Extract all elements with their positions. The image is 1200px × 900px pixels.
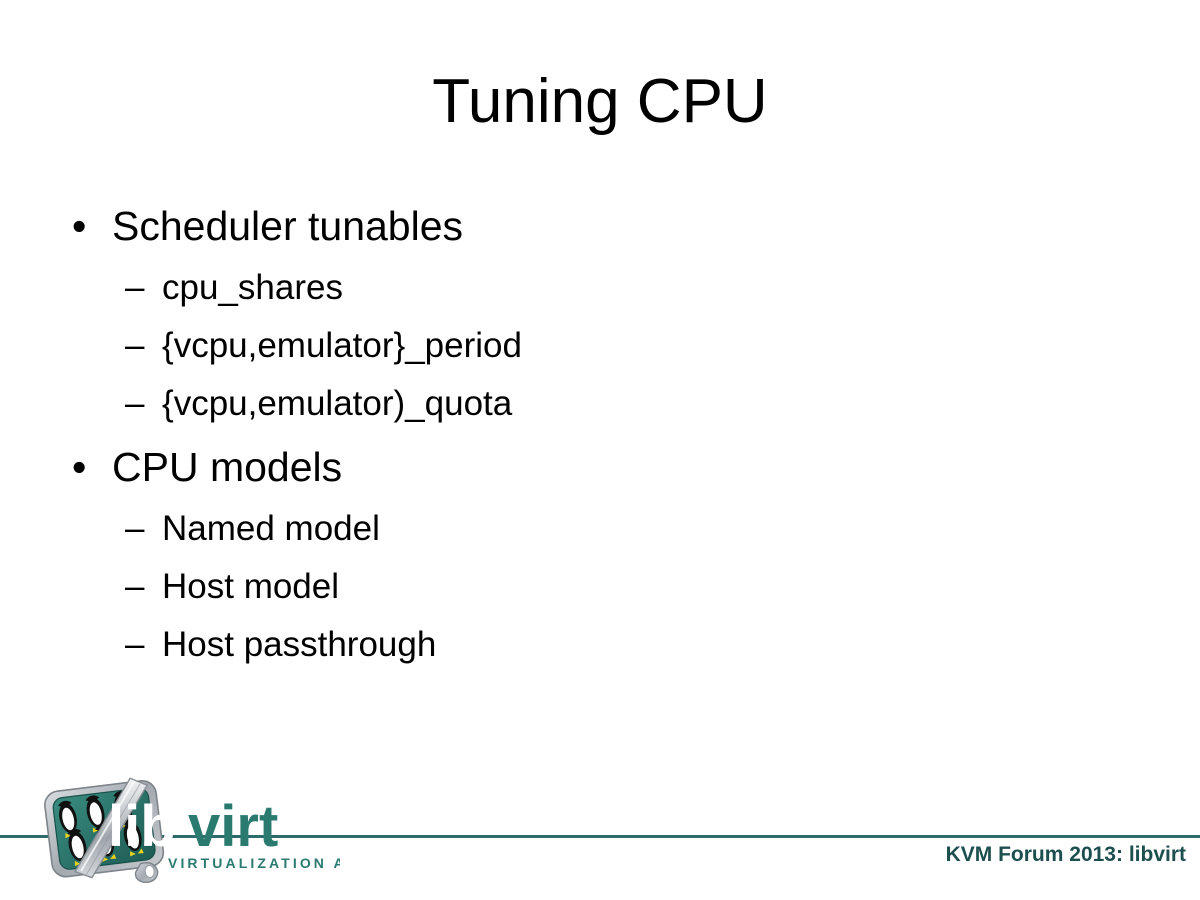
bullet-item-level1: • Scheduler tunables <box>62 206 1142 247</box>
dash-marker-icon: – <box>125 386 155 421</box>
bullet-dot-icon: • <box>72 447 96 488</box>
bullet-item-label: Scheduler tunables <box>112 206 463 247</box>
slide: Tuning CPU • Scheduler tunables – cpu_sh… <box>0 0 1200 900</box>
bullet-item-level2: – Host passthrough <box>62 627 1142 662</box>
logo-wordmark-lib: lib <box>108 794 176 859</box>
bullet-subitem-label: {vcpu,emulator}_period <box>162 328 522 363</box>
bullet-item-level2: – {vcpu,emulator}_period <box>62 328 1142 363</box>
bullet-item-level2: – {vcpu,emulator)_quota <box>62 386 1142 421</box>
logo-tagline: VIRTUALIZATION API <box>168 855 340 871</box>
bullet-subitem-label: {vcpu,emulator)_quota <box>162 386 512 421</box>
bullet-subitem-label: Host passthrough <box>162 627 436 662</box>
footer-label: KVM Forum 2013: libvirt <box>946 843 1186 867</box>
dash-marker-icon: – <box>125 627 155 662</box>
page-title: Tuning CPU <box>0 68 1200 136</box>
bullet-subitem-label: Named model <box>162 511 380 546</box>
bullet-subitem-label: cpu_shares <box>162 270 343 305</box>
logo-wordmark-virt: virt <box>188 794 278 859</box>
slide-body-outline: • Scheduler tunables – cpu_shares – {vcp… <box>62 206 1142 662</box>
outline-group: • CPU models – Named model – Host model … <box>62 447 1142 662</box>
bullet-item-level2: – cpu_shares <box>62 270 1142 305</box>
dash-marker-icon: – <box>125 569 155 604</box>
bullet-item-level2: – Host model <box>62 569 1142 604</box>
libvirt-logo: lib virt VIRTUALIZATION API <box>40 772 340 884</box>
bullet-subitem-label: Host model <box>162 569 339 604</box>
outline-group: • Scheduler tunables – cpu_shares – {vcp… <box>62 206 1142 421</box>
bullet-item-label: CPU models <box>112 447 342 488</box>
dash-marker-icon: – <box>125 328 155 363</box>
dash-marker-icon: – <box>125 270 155 305</box>
bullet-item-level1: • CPU models <box>62 447 1142 488</box>
bullet-item-level2: – Named model <box>62 511 1142 546</box>
bullet-dot-icon: • <box>72 206 96 247</box>
dash-marker-icon: – <box>125 511 155 546</box>
